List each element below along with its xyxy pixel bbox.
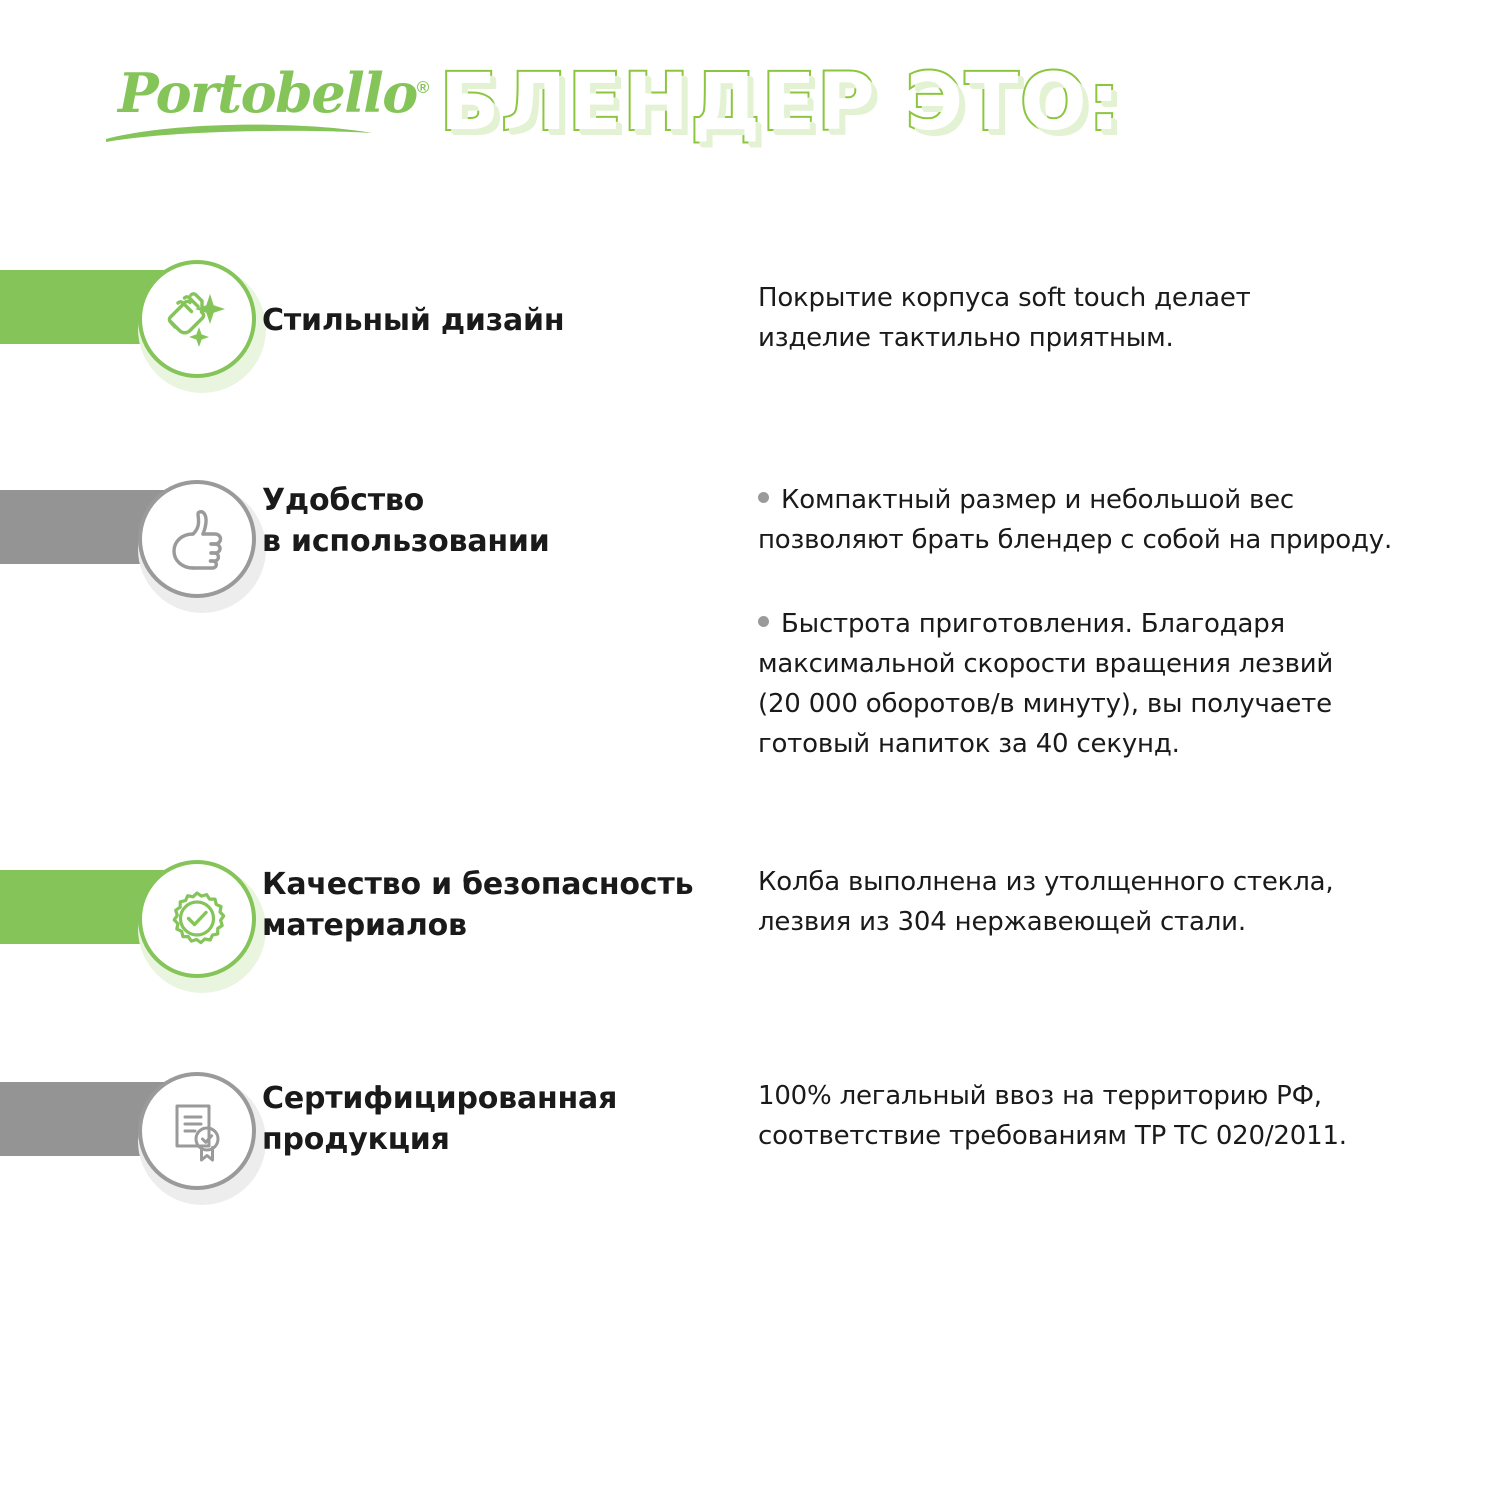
thumbs-up-icon (138, 480, 256, 598)
feature-title: Удобство в использовании (262, 480, 550, 562)
feature-list: Стильный дизайн Покрытие корпуса soft to… (0, 0, 1500, 1500)
certificate-icon (138, 1072, 256, 1190)
feature-body: Колба выполнена из утолщенного стекла, л… (758, 862, 1458, 942)
feature-paragraph: Компактный размер и небольшой вес позвол… (758, 480, 1458, 560)
feature-paragraph-text: Компактный размер и небольшой вес позвол… (758, 485, 1392, 555)
feature-body: Покрытие корпуса soft touch делает издел… (758, 278, 1458, 358)
feature-paragraph: Покрытие корпуса soft touch делает издел… (758, 278, 1458, 358)
feature-title: Сертифицированная продукция (262, 1078, 617, 1160)
feature-paragraph-text: Быстрота приготовления. Благодаря максим… (758, 609, 1333, 759)
feature-body: Компактный размер и небольшой вес позвол… (758, 480, 1458, 764)
feature-body: 100% легальный ввоз на территорию РФ, со… (758, 1076, 1458, 1156)
sparkle-hand-icon (138, 260, 256, 378)
feature-paragraph: Колба выполнена из утолщенного стекла, л… (758, 862, 1458, 942)
quality-badge-icon (138, 860, 256, 978)
bullet-icon (758, 616, 769, 627)
bullet-icon (758, 492, 769, 503)
feature-title: Качество и безопасность материалов (262, 864, 693, 946)
feature-paragraph: 100% легальный ввоз на территорию РФ, со… (758, 1076, 1458, 1156)
feature-paragraph: Быстрота приготовления. Благодаря максим… (758, 604, 1458, 764)
feature-title: Стильный дизайн (262, 300, 564, 341)
